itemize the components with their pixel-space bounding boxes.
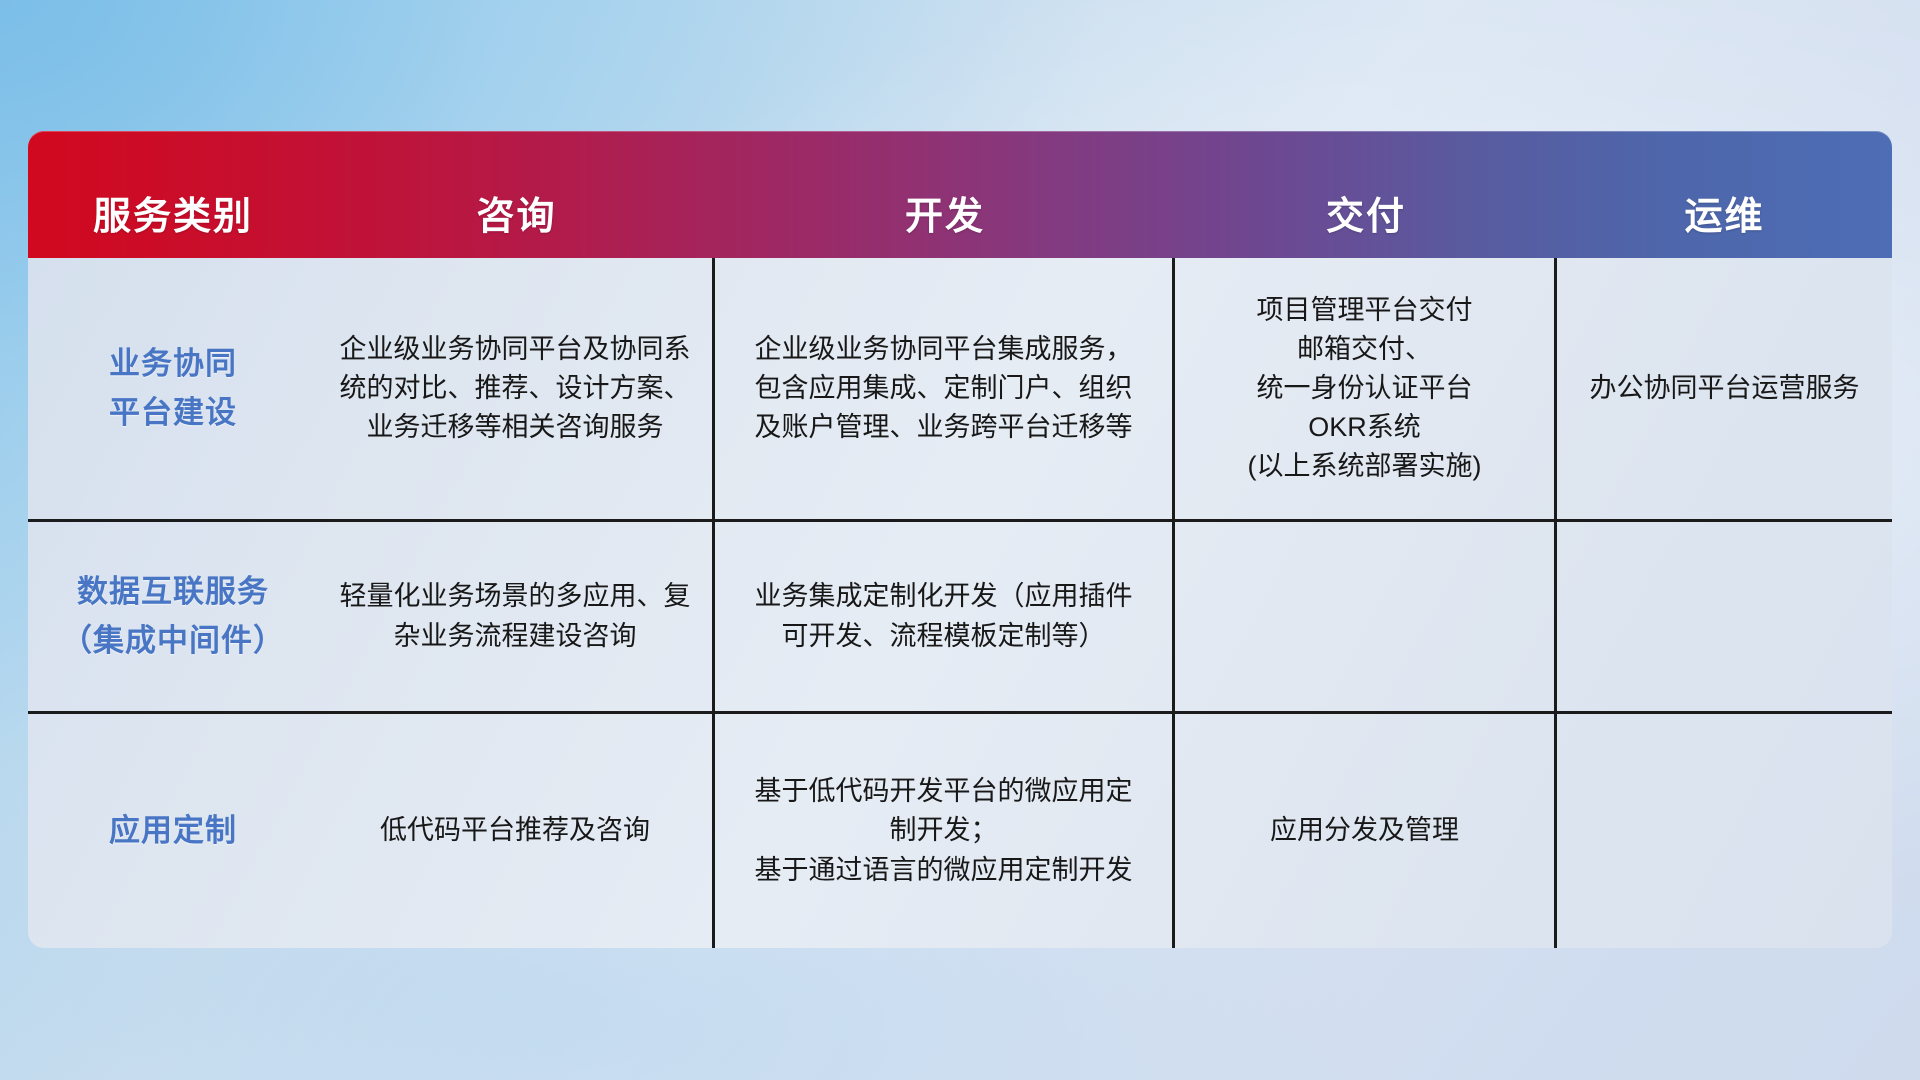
- table-header-row: 服务类别 咨询 开发 交付 运维: [28, 131, 1892, 258]
- cell-delivery-text: 项目管理平台交付 邮箱交付、 统一身份认证平台 OKR系统 (以上系统部署实施): [1248, 291, 1482, 487]
- table-row: 业务协同 平台建设 企业级业务协同平台及协同系 统的对比、推荐、设计方案、 业务…: [28, 258, 1892, 522]
- row-category-label: 应用定制: [109, 807, 237, 855]
- cell-consulting: 低代码平台推荐及咨询: [318, 714, 715, 948]
- cell-operations: [1557, 714, 1892, 948]
- table-row: 应用定制 低代码平台推荐及咨询 基于低代码开发平台的微应用定 制开发； 基于通过…: [28, 714, 1892, 948]
- service-matrix-table: 服务类别 咨询 开发 交付 运维 业务协同 平台建设 企业级业务协同平台及协同系…: [28, 131, 1892, 948]
- cell-operations: 办公协同平台运营服务: [1557, 258, 1892, 519]
- cell-delivery-text: 应用分发及管理: [1270, 811, 1459, 850]
- row-category-label: 数据互联服务 （集成中间件）: [61, 568, 285, 664]
- row-category-cell: 数据互联服务 （集成中间件）: [28, 522, 318, 711]
- column-header-development: 开发: [715, 198, 1175, 236]
- cell-consulting-text: 低代码平台推荐及咨询: [380, 811, 650, 850]
- cell-consulting-text: 轻量化业务场景的多应用、复 杂业务流程建设咨询: [340, 577, 691, 655]
- cell-delivery: 项目管理平台交付 邮箱交付、 统一身份认证平台 OKR系统 (以上系统部署实施): [1175, 258, 1557, 519]
- column-header-delivery: 交付: [1175, 198, 1557, 236]
- cell-development: 企业级业务协同平台集成服务， 包含应用集成、定制门户、组织 及账户管理、业务跨平…: [715, 258, 1175, 519]
- cell-development-text: 企业级业务协同平台集成服务， 包含应用集成、定制门户、组织 及账户管理、业务跨平…: [755, 330, 1133, 447]
- cell-consulting-text: 企业级业务协同平台及协同系 统的对比、推荐、设计方案、 业务迁移等相关咨询服务: [340, 330, 691, 447]
- cell-development-text: 业务集成定制化开发（应用插件 可开发、流程模板定制等）: [755, 577, 1133, 655]
- cell-consulting: 轻量化业务场景的多应用、复 杂业务流程建设咨询: [318, 522, 715, 711]
- cell-delivery: [1175, 522, 1557, 711]
- table-row: 数据互联服务 （集成中间件） 轻量化业务场景的多应用、复 杂业务流程建设咨询 业…: [28, 522, 1892, 714]
- cell-delivery: 应用分发及管理: [1175, 714, 1557, 948]
- cell-operations-text: 办公协同平台运营服务: [1590, 369, 1860, 408]
- cell-development-text: 基于低代码开发平台的微应用定 制开发； 基于通过语言的微应用定制开发: [755, 772, 1133, 889]
- table-body: 业务协同 平台建设 企业级业务协同平台及协同系 统的对比、推荐、设计方案、 业务…: [28, 258, 1892, 948]
- row-category-cell: 应用定制: [28, 714, 318, 948]
- column-header-category: 服务类别: [28, 198, 318, 236]
- row-category-cell: 业务协同 平台建设: [28, 258, 318, 519]
- column-header-operations: 运维: [1557, 198, 1892, 236]
- row-category-label: 业务协同 平台建设: [109, 340, 237, 436]
- cell-development: 基于低代码开发平台的微应用定 制开发； 基于通过语言的微应用定制开发: [715, 714, 1175, 948]
- cell-operations: [1557, 522, 1892, 711]
- column-header-consulting: 咨询: [318, 198, 715, 236]
- cell-development: 业务集成定制化开发（应用插件 可开发、流程模板定制等）: [715, 522, 1175, 711]
- cell-consulting: 企业级业务协同平台及协同系 统的对比、推荐、设计方案、 业务迁移等相关咨询服务: [318, 258, 715, 519]
